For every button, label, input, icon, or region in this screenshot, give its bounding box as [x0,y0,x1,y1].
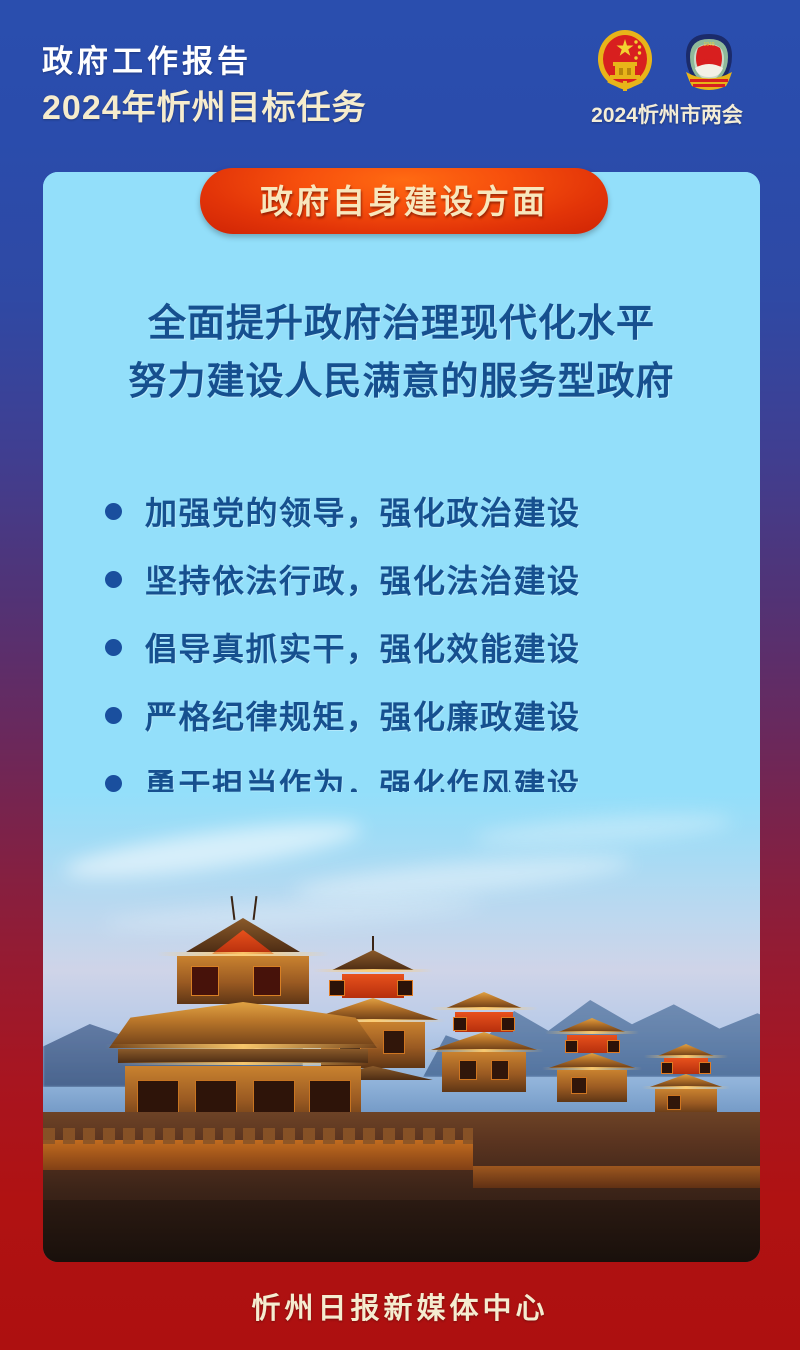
footer-credit: 忻州日报新媒体中心 [251,1285,548,1327]
footer: 忻州日报新媒体中心 [0,1262,800,1350]
bullet-list: 加强党的领导，强化政治建设 坚持依法行政，强化法治建设 倡导真抓实干，强化效能建… [43,477,760,817]
pagoda-tower-small-3 [543,1014,641,1126]
list-item: 坚持依法行政，强化法治建设 [43,545,760,613]
wall-lighting-glow [473,1166,760,1188]
list-item: 加强党的领导，强化政治建设 [43,477,760,545]
bullet-dot-icon [105,707,122,724]
wall-lighting-glow [43,1140,473,1170]
bullet-dot-icon [105,503,122,520]
content-card: 全面提升政府治理现代化水平 努力建设人民满意的服务型政府 加强党的领导，强化政治… [43,172,760,1262]
cppcc-emblem-icon: 1949 [678,26,740,96]
wall-crenellations [43,1128,473,1144]
list-item: 倡导真抓实干，强化效能建设 [43,613,760,681]
report-subtitle: 2024年忻州目标任务 [42,88,367,128]
headline-line-1: 全面提升政府治理现代化水平 [43,296,760,354]
city-photo [43,792,760,1262]
header: 政府工作报告 2024年忻州目标任务 [0,0,800,172]
bullet-dot-icon [105,775,122,792]
bullet-label: 加强党的领导，强化政治建设 [145,488,581,534]
report-title: 政府工作报告 [42,44,367,81]
bullet-label: 严格纪律规矩，强化廉政建设 [145,692,581,738]
bullet-label: 倡导真抓实干，强化效能建设 [145,624,581,670]
national-emblem-icon [594,26,656,96]
wall-base-shadow [43,1200,760,1262]
bullet-dot-icon [105,571,122,588]
poster-root: 政府工作报告 2024年忻州目标任务 [0,0,800,1350]
tower-finial-icon [230,896,235,920]
headline: 全面提升政府治理现代化水平 努力建设人民满意的服务型政府 [43,296,760,412]
bullet-label: 坚持依法行政，强化法治建设 [145,556,581,602]
svg-text:1949: 1949 [703,42,714,48]
headline-line-2: 努力建设人民满意的服务型政府 [43,354,760,412]
emblem-row: 1949 [562,26,772,96]
tower-finial-icon [253,896,258,920]
bullet-dot-icon [105,639,122,656]
emblem-group: 1949 2024忻州市两会 [562,26,772,129]
list-item: 严格纪律规矩，强化廉政建设 [43,681,760,749]
header-title-group: 政府工作报告 2024年忻州目标任务 [42,44,367,128]
emblem-caption: 2024忻州市两会 [562,99,772,129]
section-banner: 政府自身建设方面 [200,168,608,234]
section-banner-label: 政府自身建设方面 [260,185,548,218]
